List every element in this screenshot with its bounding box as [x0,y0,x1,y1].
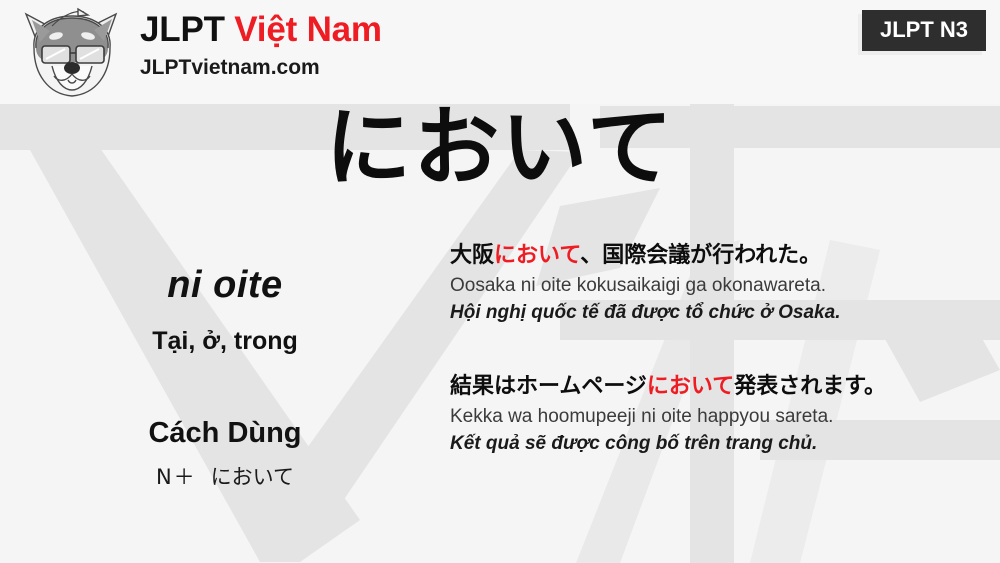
example-jp-before: 結果はホームページ [450,374,647,399]
page-header: JLPT Việt Nam JLPTvietnam.com JLPT N3 [0,0,1000,104]
example-jp-after: 発表されます。 [734,374,886,399]
example-vietnamese: Hội nghị quốc tế đã được tổ chức ở Osaka… [450,299,990,326]
meaning-text: Tại, ở, trong [20,324,430,358]
usage-formula: N＋において [20,462,430,492]
grammar-card: JLPT Việt Nam JLPTvietnam.com JLPT N3 にお… [0,0,1000,563]
brand-block: JLPT Việt Nam JLPTvietnam.com [140,8,382,80]
example-vietnamese: Kết quả sẽ được công bố trên trang chủ. [450,430,990,457]
romaji-reading: ni oite [20,260,430,310]
brand-title: JLPT Việt Nam [140,8,382,52]
example-romaji: Oosaka ni oite kokusaikaigi ga okonaware… [450,272,990,299]
example-jp-before: 大阪 [450,243,494,268]
brand-title-accent: Việt Nam [234,10,382,49]
example-romaji: Kekka wa hoomupeeji ni oite happyou sare… [450,403,990,430]
page-title: において [0,98,1000,198]
usage-noun: N [156,465,172,489]
status-badge: JLPT N3 [862,10,986,51]
example-jp-highlight: において [647,374,734,399]
usage-heading: Cách Dùng [20,414,430,452]
example-block: 大阪において、国際会議が行われた。 Oosaka ni oite kokusai… [450,240,990,326]
content-area: ni oite Tại, ở, trong Cách Dùng N＋において 大… [0,240,1000,540]
left-column: ni oite Tại, ở, trong Cách Dùng N＋において [20,240,430,492]
brand-website: JLPTvietnam.com [140,56,382,80]
brand-title-primary: JLPT [140,10,234,49]
example-block: 結果はホームページにおいて発表されます。 Kekka wa hoomupeeji… [450,371,990,457]
example-japanese: 大阪において、国際会議が行われた。 [450,240,990,272]
example-jp-highlight: において [494,243,580,268]
usage-tail: において [211,465,294,489]
shiba-dog-glasses-icon [12,4,132,104]
example-jp-after: 、国際会議が行われた。 [580,243,821,268]
example-japanese: 結果はホームページにおいて発表されます。 [450,371,990,403]
plus-icon: ＋ [174,465,195,489]
right-column: 大阪において、国際会議が行われた。 Oosaka ni oite kokusai… [450,240,990,485]
